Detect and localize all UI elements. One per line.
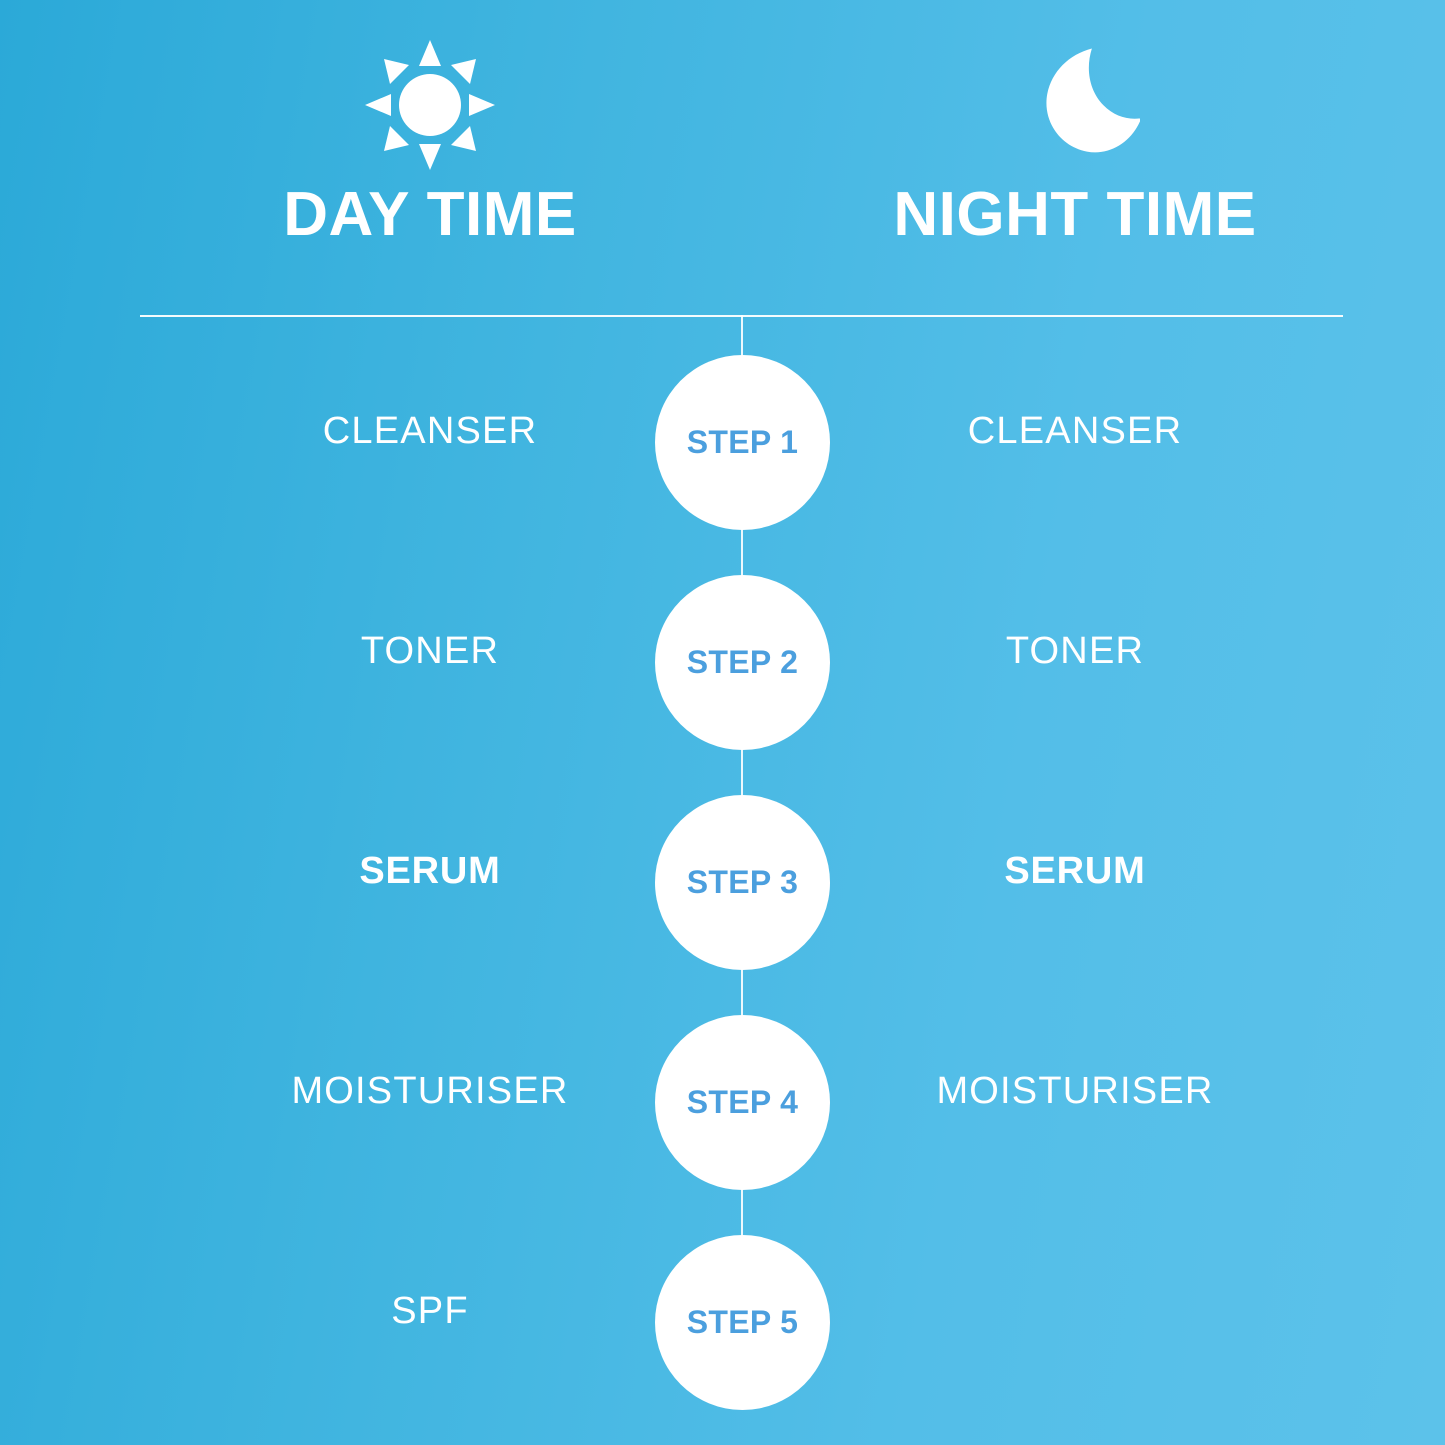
step-list: CLEANSER STEP 1 CLEANSER TONER STEP 2 TO… [0,0,1445,1445]
step-row: TONER STEP 2 TONER [0,573,1445,753]
night-step-label: MOISTURISER [840,1069,1310,1115]
step-badge-label: STEP 5 [687,1304,799,1341]
step-badge-label: STEP 3 [687,864,799,901]
step-row: SPF STEP 5 [0,1233,1445,1413]
step-badge-label: STEP 2 [687,644,799,681]
night-step-label: CLEANSER [840,409,1310,455]
step-badge[interactable]: STEP 1 [655,355,830,530]
night-step-label: SERUM [840,849,1310,895]
step-badge[interactable]: STEP 4 [655,1015,830,1190]
step-row: MOISTURISER STEP 4 MOISTURISER [0,1013,1445,1193]
step-badge[interactable]: STEP 3 [655,795,830,970]
step-badge-label: STEP 1 [687,424,799,461]
step-row: SERUM STEP 3 SERUM [0,793,1445,973]
night-step-label: TONER [840,629,1310,675]
skincare-routine-infographic: DAY TIME NIGHT TIME CLEANSER STEP 1 CLEA… [0,0,1445,1445]
step-badge-label: STEP 4 [687,1084,799,1121]
step-badge[interactable]: STEP 2 [655,575,830,750]
step-row: CLEANSER STEP 1 CLEANSER [0,353,1445,533]
day-step-label: SERUM [195,849,665,895]
day-step-label: SPF [195,1289,665,1335]
step-badge[interactable]: STEP 5 [655,1235,830,1410]
day-step-label: MOISTURISER [195,1069,665,1115]
day-step-label: TONER [195,629,665,675]
day-step-label: CLEANSER [195,409,665,455]
